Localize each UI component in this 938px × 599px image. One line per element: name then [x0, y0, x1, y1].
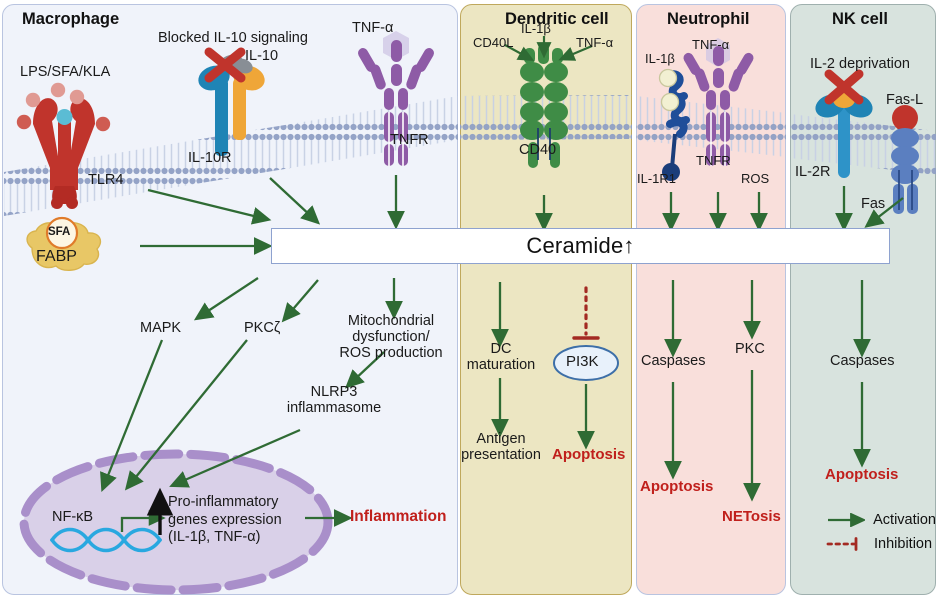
node-genes-line1: Pro-inflammatory — [168, 494, 278, 510]
legend-row-inhibition: Inhibition — [826, 532, 936, 556]
label-tnfa-macrophage: TNF-α — [352, 20, 393, 36]
node-nlrp3-line1: NLRP3 — [311, 384, 358, 400]
ceramide-node: Ceramide↑ — [271, 228, 890, 264]
legend-label-activation: Activation — [873, 512, 936, 528]
panel-title-macrophage: Macrophage — [22, 10, 119, 29]
label-il2r: IL-2R — [795, 164, 830, 180]
label-blocked-il10-signaling: Blocked IL-10 signaling — [158, 30, 308, 46]
label-cd40: CD40 — [519, 142, 556, 158]
node-mito-line3: ROS production — [339, 345, 442, 361]
node-caspases-neutrophil: Caspases — [641, 353, 705, 369]
label-fas-l: Fas-L — [886, 92, 923, 108]
node-proinflammatory-genes: Pro-inflammatory genes expression (IL-1β… — [168, 494, 282, 547]
node-pkc-zeta: PKCζ — [244, 320, 280, 336]
node-dc-maturation: DC maturation — [455, 341, 547, 373]
panel-dendritic — [460, 4, 632, 595]
outcome-apoptosis-dendritic: Apoptosis — [552, 447, 625, 464]
node-caspases-nk: Caspases — [830, 353, 894, 369]
panel-title-neutrophil: Neutrophil — [667, 10, 750, 29]
activation-arrow-icon — [826, 513, 865, 527]
outcome-apoptosis-neutrophil: Apoptosis — [640, 479, 713, 496]
legend-label-inhibition: Inhibition — [874, 536, 932, 552]
outcome-apoptosis-nk: Apoptosis — [825, 467, 898, 484]
label-il1b-dendritic: IL-1β — [521, 22, 551, 37]
node-antigen-line2: presentation — [461, 447, 541, 463]
legend-row-activation: Activation — [826, 508, 936, 532]
label-il1b-neutrophil: IL-1β — [645, 52, 675, 67]
label-tnfa-dendritic: TNF-α — [576, 36, 613, 51]
node-genes-line3: (IL-1β, TNF-α) — [168, 529, 260, 545]
label-fas: Fas — [861, 196, 885, 212]
label-il2-deprivation: IL-2 deprivation — [810, 56, 910, 72]
label-tnfa-neutrophil: TNF-α — [692, 38, 729, 53]
node-mapk: MAPK — [140, 320, 181, 336]
node-mito-dysfunction: Mitochondrial dysfunction/ ROS productio… — [335, 313, 447, 362]
node-pkc-neutrophil: PKC — [735, 341, 765, 357]
label-fabp: FABP — [36, 248, 77, 266]
inhibition-bar-icon — [826, 537, 866, 551]
pathway-figure: Ceramide↑ Macrophage Dendritic cell Neut… — [0, 0, 938, 599]
node-genes-line2: genes expression — [168, 512, 282, 528]
label-sfa: SFA — [48, 226, 70, 239]
node-antigen-line1: Antigen — [476, 431, 525, 447]
node-mito-line2: dysfunction/ — [352, 329, 429, 345]
node-dc-line2: maturation — [467, 357, 536, 373]
node-dc-line1: DC — [491, 341, 512, 357]
label-cd40l: CD40L — [473, 36, 513, 51]
label-il1r1: IL-1R1 — [637, 172, 676, 187]
panel-neutrophil — [636, 4, 786, 595]
label-lps-sfa-kla: LPS/SFA/KLA — [20, 64, 110, 80]
legend: Activation Inhibition — [826, 508, 936, 556]
node-ros-neutrophil: ROS — [741, 172, 769, 187]
label-tnfr-macrophage: TNFR — [390, 132, 429, 148]
outcome-inflammation: Inflammation — [350, 508, 446, 525]
node-antigen-presentation: Antigen presentation — [452, 431, 550, 463]
label-il10: IL-10 — [245, 48, 278, 64]
panel-title-nk: NK cell — [832, 10, 888, 29]
ceramide-label: Ceramide↑ — [526, 233, 634, 259]
node-nlrp3-inflammasome: NLRP3 inflammasome — [282, 384, 386, 416]
label-tlr4: TLR4 — [88, 172, 123, 188]
node-nf-kb: NF-κB — [52, 509, 93, 525]
label-tnfr-neutrophil: TNFR — [696, 154, 731, 169]
node-mito-line1: Mitochondrial — [348, 313, 434, 329]
outcome-netosis: NETosis — [722, 509, 781, 526]
node-pi3k-label: PI3K — [566, 354, 599, 371]
node-nlrp3-line2: inflammasome — [287, 400, 381, 416]
label-il10r: IL-10R — [188, 150, 232, 166]
